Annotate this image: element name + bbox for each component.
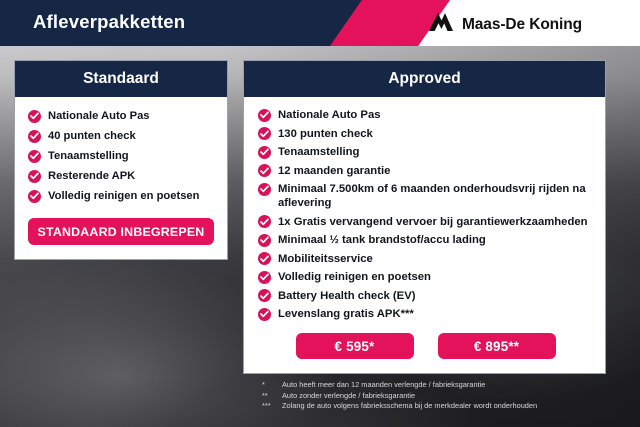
list-item-label: Resterende APK [48,169,135,183]
maas-de-koning-logo-icon [428,11,454,38]
list-item: Tenaamstelling [28,149,215,163]
footnotes: *Auto heeft meer dan 12 maanden verlengd… [262,380,612,412]
list-item-label: Nationale Auto Pas [48,109,150,123]
footnote-row: *Auto heeft meer dan 12 maanden verlengd… [262,380,612,391]
check-circle-icon [28,150,41,163]
standaard-inbegrepen-button[interactable]: STANDAARD INBEGREPEN [28,218,214,245]
list-item: 12 maanden garantie [258,164,593,178]
brand-logo: Maas-De Koning [428,11,582,38]
list-item: Tenaamstelling [258,145,593,159]
card-approved: Approved Nationale Auto Pas130 punten ch… [243,60,606,374]
footnote-marker: ** [262,391,282,402]
check-circle-icon [28,170,41,183]
list-item: Battery Health check (EV) [258,289,593,303]
list-item-label: Minimaal ½ tank brandstof/accu lading [278,233,486,247]
list-item-label: Battery Health check (EV) [278,289,416,303]
check-circle-icon [28,110,41,123]
list-item: Minimaal ½ tank brandstof/accu lading [258,233,593,247]
list-item: Nationale Auto Pas [28,109,215,123]
list-item-label: Minimaal 7.500km of 6 maanden onderhouds… [278,182,593,210]
check-circle-icon [258,289,271,302]
check-circle-icon [258,183,271,196]
check-circle-icon [258,127,271,140]
list-item-label: Nationale Auto Pas [278,108,381,122]
check-circle-icon [258,109,271,122]
footnote-text: Zolang de auto volgens fabrieksschema bi… [282,401,537,412]
price-button-595[interactable]: € 595* [296,333,414,359]
feature-list-approved: Nationale Auto Pas130 punten checkTenaam… [258,108,593,321]
list-item: 130 punten check [258,127,593,141]
footnote-marker: * [262,380,282,391]
card-standaard: Standaard Nationale Auto Pas40 punten ch… [14,60,228,260]
list-item-label: Tenaamstelling [48,149,129,163]
list-item-label: Volledig reinigen en poetsen [48,189,199,203]
check-circle-icon [258,164,271,177]
list-item: Levenslang gratis APK*** [258,307,593,321]
list-item-label: 130 punten check [278,127,373,141]
price-button-row: € 595* € 895** [244,333,607,359]
check-circle-icon [258,215,271,228]
check-circle-icon [28,130,41,143]
list-item-label: Mobiliteitsservice [278,252,373,266]
card-standaard-title: Standaard [15,61,227,97]
check-circle-icon [28,190,41,203]
card-approved-body: Nationale Auto Pas130 punten checkTenaam… [244,97,605,330]
check-circle-icon [258,146,271,159]
list-item: Volledig reinigen en poetsen [258,270,593,284]
footnote-text: Auto zonder verlengde / fabrieksgarantie [282,391,415,402]
list-item-label: Levenslang gratis APK*** [278,307,414,321]
list-item: Minimaal 7.500km of 6 maanden onderhouds… [258,182,593,210]
page-header: Afleverpakketten Maas-De Koning [0,0,640,46]
footnote-text: Auto heeft meer dan 12 maanden verlengde… [282,380,485,391]
list-item-label: 40 punten check [48,129,136,143]
list-item: 40 punten check [28,129,215,143]
list-item: Mobiliteitsservice [258,252,593,266]
feature-list-standaard: Nationale Auto Pas40 punten checkTenaams… [28,109,215,203]
card-approved-title: Approved [244,61,605,97]
footnote-marker: *** [262,401,282,412]
list-item: Resterende APK [28,169,215,183]
footnote-row: ***Zolang de auto volgens fabrieksschema… [262,401,612,412]
check-circle-icon [258,234,271,247]
check-circle-icon [258,252,271,265]
list-item-label: 1x Gratis vervangend vervoer bij garanti… [278,215,588,229]
card-standaard-body: Nationale Auto Pas40 punten checkTenaams… [15,97,227,213]
list-item-label: 12 maanden garantie [278,164,390,178]
brand-name: Maas-De Koning [462,16,582,34]
list-item: 1x Gratis vervangend vervoer bij garanti… [258,215,593,229]
list-item-label: Tenaamstelling [278,145,359,159]
footnote-row: **Auto zonder verlengde / fabrieksgarant… [262,391,612,402]
page-title: Afleverpakketten [33,11,185,33]
price-button-895[interactable]: € 895** [438,333,556,359]
check-circle-icon [258,271,271,284]
list-item: Volledig reinigen en poetsen [28,189,215,203]
list-item-label: Volledig reinigen en poetsen [278,270,431,284]
list-item: Nationale Auto Pas [258,108,593,122]
check-circle-icon [258,308,271,321]
afleverpakketten-page: Afleverpakketten Maas-De Koning Standaar… [0,0,640,427]
